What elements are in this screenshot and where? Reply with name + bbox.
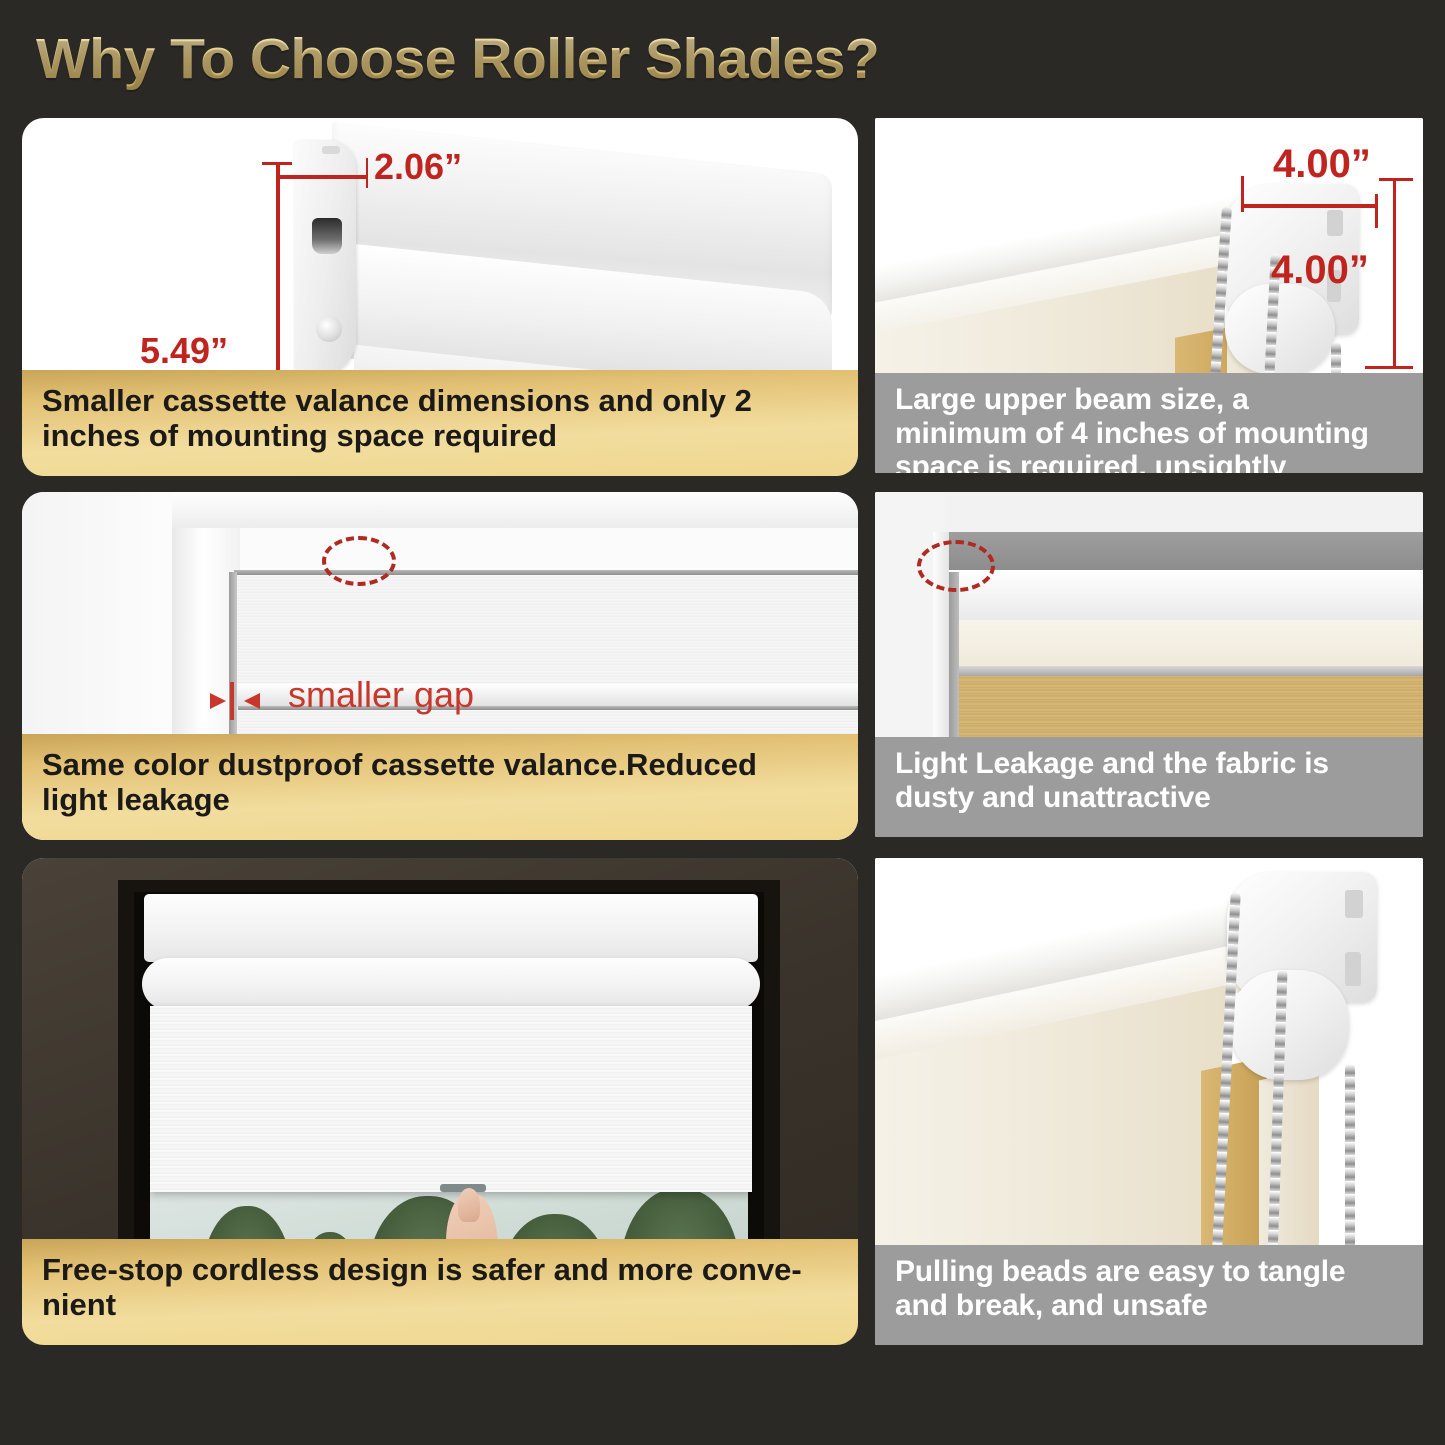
gap-arrow-left — [210, 693, 226, 709]
highlight-ellipse — [322, 536, 396, 586]
infographic-page: Why To Choose Roller Shades? 2.06” 5.49” — [0, 0, 1445, 1445]
valance-screw — [316, 316, 342, 342]
caption-bottom-left: Free-stop cordless design is safer and m… — [22, 1239, 858, 1345]
page-title: Why To Choose Roller Shades? — [36, 26, 879, 92]
panel-bottom-left: Free-stop cordless design is safer and m… — [22, 858, 858, 1345]
dimension-label-height: 4.00” — [1271, 248, 1369, 293]
panel-top-right: 4.00” 4.00” Large upper beam size, a min… — [875, 118, 1423, 473]
caption-bottom-right: Pulling beads are easy to tangle and bre… — [875, 1245, 1423, 1345]
caption-top-right: Large upper beam size, a minimum of 4 in… — [875, 373, 1423, 473]
valance-chain-hole — [312, 218, 342, 254]
panel-bottom-right: Pulling beads are easy to tangle and bre… — [875, 858, 1423, 1345]
panel-middle-left: smaller gap Same color dustproof cassett… — [22, 492, 858, 840]
panel-middle-right: Large gap Light Leakage and the fabric i… — [875, 492, 1423, 837]
gap-arrow-right — [244, 693, 260, 709]
panel-top-left: 2.06” 5.49” Smaller cassette valance dim… — [22, 118, 858, 476]
highlight-ellipse — [917, 540, 995, 592]
caption-top-left: Smaller cassette valance dimensions and … — [22, 370, 858, 476]
caption-middle-right: Light Leakage and the fabric is dusty an… — [875, 737, 1423, 837]
caption-middle-left: Same color dustproof cassette valance.Re… — [22, 734, 858, 840]
dimension-label-height: 5.49” — [140, 330, 228, 372]
gap-label: smaller gap — [288, 674, 474, 716]
dimension-label-width: 2.06” — [374, 146, 462, 188]
dimension-label-width: 4.00” — [1273, 142, 1371, 187]
cassette-valance — [144, 894, 758, 962]
roller-shade-fabric — [150, 1006, 752, 1192]
